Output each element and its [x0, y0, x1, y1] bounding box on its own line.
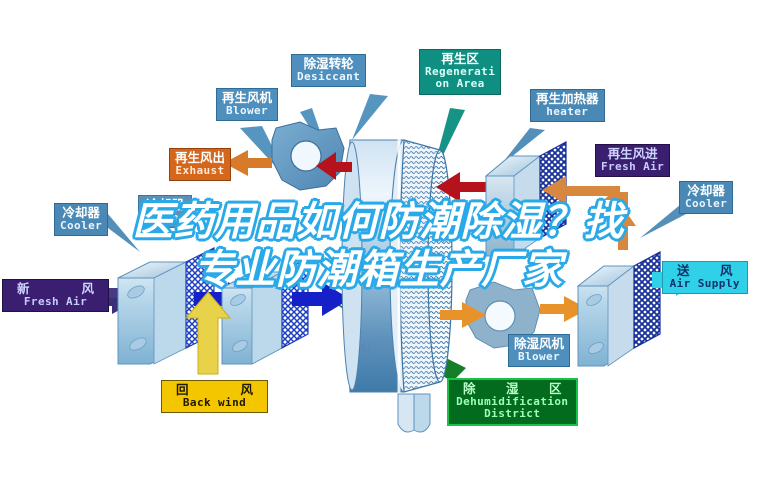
label-cooler-left[interactable]: 冷却器 Cooler: [54, 203, 108, 236]
schematic-graphics: XJ: [0, 0, 757, 488]
label-dehum-blower-cn: 除湿风机: [514, 337, 564, 351]
label-cooler-left-en: Cooler: [60, 220, 102, 232]
label-regen-blower[interactable]: 再生风机 Blower: [216, 88, 278, 121]
label-regeneration-area-en-2: on Area: [425, 78, 495, 90]
label-air-supply-en: Air Supply: [668, 278, 742, 290]
label-regen-fresh-air[interactable]: 再生风进 Fresh Air: [595, 144, 670, 177]
label-regen-blower-en: Blower: [222, 105, 272, 117]
label-regen-heater-en: heater: [536, 106, 599, 118]
label-air-supply-cn: 送 风: [668, 264, 742, 278]
label-dehumidification-district-en-2: District: [454, 408, 571, 420]
label-cooler-left-back[interactable]: 冷却器 Cooler: [138, 195, 192, 228]
condensate-drain: [398, 394, 430, 432]
label-desiccant-wheel-cn: 除湿转轮: [297, 57, 360, 71]
dehumidifier-diagram-canvas: XJ: [0, 0, 757, 488]
label-cooler-right-en: Cooler: [685, 198, 727, 210]
label-cooler-left-back-en: Cooler: [144, 212, 186, 224]
label-desiccant-wheel[interactable]: 除湿转轮 Desiccant: [291, 54, 366, 87]
label-dehum-blower-en: Blower: [514, 351, 564, 363]
label-back-wind-cn: 回 风: [167, 383, 262, 397]
desiccant-rotor: XJ: [342, 138, 452, 394]
label-dehumidification-district[interactable]: 除 湿 区 Dehumidification District: [447, 378, 578, 426]
label-regen-blower-cn: 再生风机: [222, 91, 272, 105]
label-regen-heater[interactable]: 再生加热器 heater: [530, 89, 605, 122]
label-regeneration-area[interactable]: 再生区 Regenerati on Area: [419, 49, 501, 95]
label-fresh-air[interactable]: 新 风 Fresh Air: [2, 279, 109, 312]
regen-heater-coil: [486, 142, 566, 256]
label-cooler-left-cn: 冷却器: [60, 206, 102, 220]
label-air-supply[interactable]: 送 风 Air Supply: [662, 261, 748, 294]
label-regen-heater-cn: 再生加热器: [536, 92, 599, 106]
label-regeneration-area-cn: 再生区: [425, 52, 495, 66]
label-fresh-air-cn: 新 风: [8, 282, 103, 296]
svg-text:XJ: XJ: [358, 341, 371, 356]
label-exhaust-cn: 再生风出: [175, 151, 225, 165]
label-cooler-right-cn: 冷却器: [685, 184, 727, 198]
label-back-wind-en: Back wind: [167, 397, 262, 409]
label-dehum-blower[interactable]: 除湿风机 Blower: [508, 334, 570, 367]
label-cooler-right[interactable]: 冷却器 Cooler: [679, 181, 733, 214]
label-regen-fresh-air-en: Fresh Air: [601, 161, 664, 173]
label-exhaust-en: Exhaust: [175, 165, 225, 177]
post-cooler-coil: [578, 252, 660, 366]
label-back-wind[interactable]: 回 风 Back wind: [161, 380, 268, 413]
label-exhaust[interactable]: 再生风出 Exhaust: [169, 148, 231, 181]
mid-cooler-coil: [222, 258, 308, 364]
label-desiccant-wheel-en: Desiccant: [297, 71, 360, 83]
label-fresh-air-en: Fresh Air: [8, 296, 103, 308]
label-dehumidification-district-cn: 除 湿 区: [454, 382, 571, 396]
label-regen-fresh-air-cn: 再生风进: [601, 147, 664, 161]
label-cooler-left-back-cn: 冷却器: [144, 198, 186, 212]
